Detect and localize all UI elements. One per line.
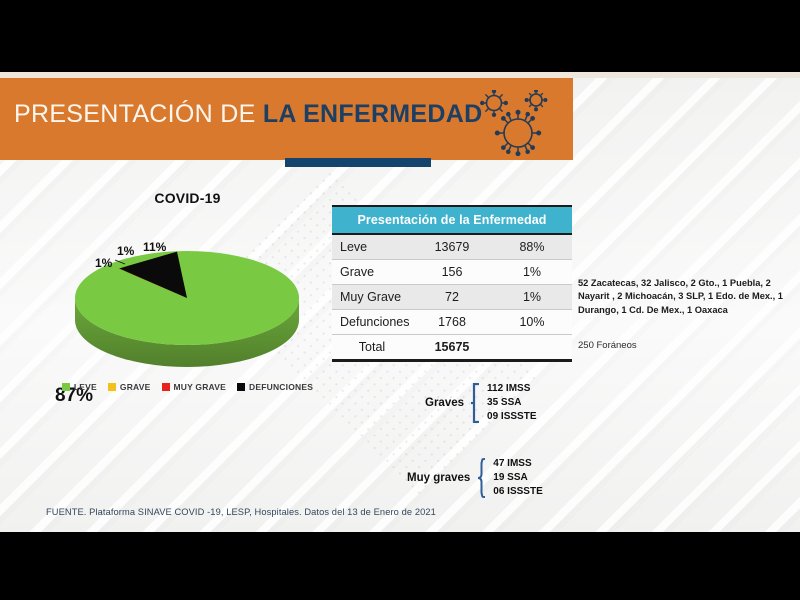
pie-label-grave: 1% bbox=[117, 244, 134, 258]
table-row: Grave 156 1% bbox=[332, 260, 572, 285]
legend-swatch-muy-grave bbox=[162, 383, 170, 391]
row-count: 13679 bbox=[412, 234, 492, 260]
legend-label-defunciones: DEFUNCIONES bbox=[249, 382, 313, 392]
table-row: Muy Grave 72 1% bbox=[332, 285, 572, 310]
table-header-title: Presentación de la Enfermedad bbox=[332, 206, 572, 234]
brace-icon bbox=[471, 383, 480, 423]
total-label: Total bbox=[332, 335, 412, 361]
annotation-value: 35 SSA bbox=[487, 397, 521, 408]
row-label: Leve bbox=[332, 234, 412, 260]
page-title: PRESENTACIÓN DE LA ENFERMEDAD bbox=[14, 100, 482, 129]
annotation-values: 112 IMSS 35 SSA 09 ISSSTE bbox=[487, 382, 536, 425]
annotation-values: 47 IMSS 19 SSA 06 ISSSTE bbox=[493, 457, 542, 500]
annotation-value: 09 ISSSTE bbox=[487, 411, 536, 422]
annotation-label: Graves bbox=[425, 397, 464, 409]
row-label: Muy Grave bbox=[332, 285, 412, 310]
letterbox-bottom bbox=[0, 532, 800, 600]
table-row: Leve 13679 88% bbox=[332, 234, 572, 260]
legend-item-muy-grave: MUY GRAVE bbox=[162, 382, 227, 392]
states-breakdown-note: 52 Zacatecas, 32 Jalisco, 2 Gto., 1 Pueb… bbox=[578, 277, 792, 317]
annotation-value: 47 IMSS bbox=[493, 458, 531, 469]
row-count: 1768 bbox=[412, 310, 492, 335]
total-percent bbox=[492, 335, 572, 361]
legend-swatch-grave bbox=[108, 383, 116, 391]
page-title-light: PRESENTACIÓN DE bbox=[14, 100, 263, 128]
header-banner: PRESENTACIÓN DE LA ENFERMEDAD bbox=[0, 78, 573, 160]
annotation-value: 112 IMSS bbox=[487, 383, 530, 394]
legend-label-grave: GRAVE bbox=[120, 382, 151, 392]
legend-swatch-defunciones bbox=[237, 383, 245, 391]
legend-label-leve: LEVE bbox=[74, 382, 97, 392]
legend-swatch-leve bbox=[62, 383, 70, 391]
legend-item-leve: LEVE bbox=[62, 382, 97, 392]
annotation-label: Muy graves bbox=[407, 472, 470, 484]
chart-legend: LEVE GRAVE MUY GRAVE DEFUNCIONES bbox=[55, 382, 320, 392]
total-count: 15675 bbox=[412, 335, 492, 361]
pie-chart: 1% 1% 11% 87% bbox=[55, 220, 320, 380]
annotation-value: 06 ISSSTE bbox=[493, 486, 542, 497]
row-label: Grave bbox=[332, 260, 412, 285]
row-percent: 1% bbox=[492, 260, 572, 285]
legend-item-defunciones: DEFUNCIONES bbox=[237, 382, 313, 392]
row-label: Defunciones bbox=[332, 310, 412, 335]
table-total-row: Total 15675 bbox=[332, 335, 572, 361]
table-header-row: Presentación de la Enfermedad bbox=[332, 206, 572, 234]
legend-label-muy-grave: MUY GRAVE bbox=[174, 382, 227, 392]
row-count: 156 bbox=[412, 260, 492, 285]
legend-item-grave: GRAVE bbox=[108, 382, 151, 392]
row-count: 72 bbox=[412, 285, 492, 310]
row-percent: 10% bbox=[492, 310, 572, 335]
page-title-bold: LA ENFERMEDAD bbox=[263, 100, 483, 128]
brace-icon bbox=[477, 458, 486, 498]
pie-chart-block: COVID-19 bbox=[55, 190, 320, 415]
annotation-muy-graves: Muy graves 47 IMSS 19 SSA 06 ISSSTE bbox=[407, 457, 543, 500]
screen: PRESENTACIÓN DE LA ENFERMEDAD bbox=[0, 0, 800, 600]
foraneos-note: 250 Foráneos bbox=[578, 340, 792, 351]
annotation-graves: Graves 112 IMSS 35 SSA 09 ISSSTE bbox=[425, 382, 536, 425]
source-footnote: FUENTE. Plataforma SINAVE COVID -19, LES… bbox=[46, 507, 436, 517]
slide-canvas: PRESENTACIÓN DE LA ENFERMEDAD bbox=[0, 72, 800, 532]
chart-title: COVID-19 bbox=[55, 190, 320, 206]
annotation-value: 19 SSA bbox=[493, 472, 527, 483]
pie-label-defunciones: 11% bbox=[143, 240, 166, 254]
disease-presentation-table: Presentación de la Enfermedad Leve 13679… bbox=[332, 205, 572, 362]
pie-label-muy-grave: 1% bbox=[95, 256, 112, 270]
coronavirus-icon bbox=[480, 90, 560, 156]
row-percent: 1% bbox=[492, 285, 572, 310]
table-row: Defunciones 1768 10% bbox=[332, 310, 572, 335]
row-percent: 88% bbox=[492, 234, 572, 260]
letterbox-top bbox=[0, 0, 800, 72]
title-accent-bar bbox=[285, 158, 431, 167]
